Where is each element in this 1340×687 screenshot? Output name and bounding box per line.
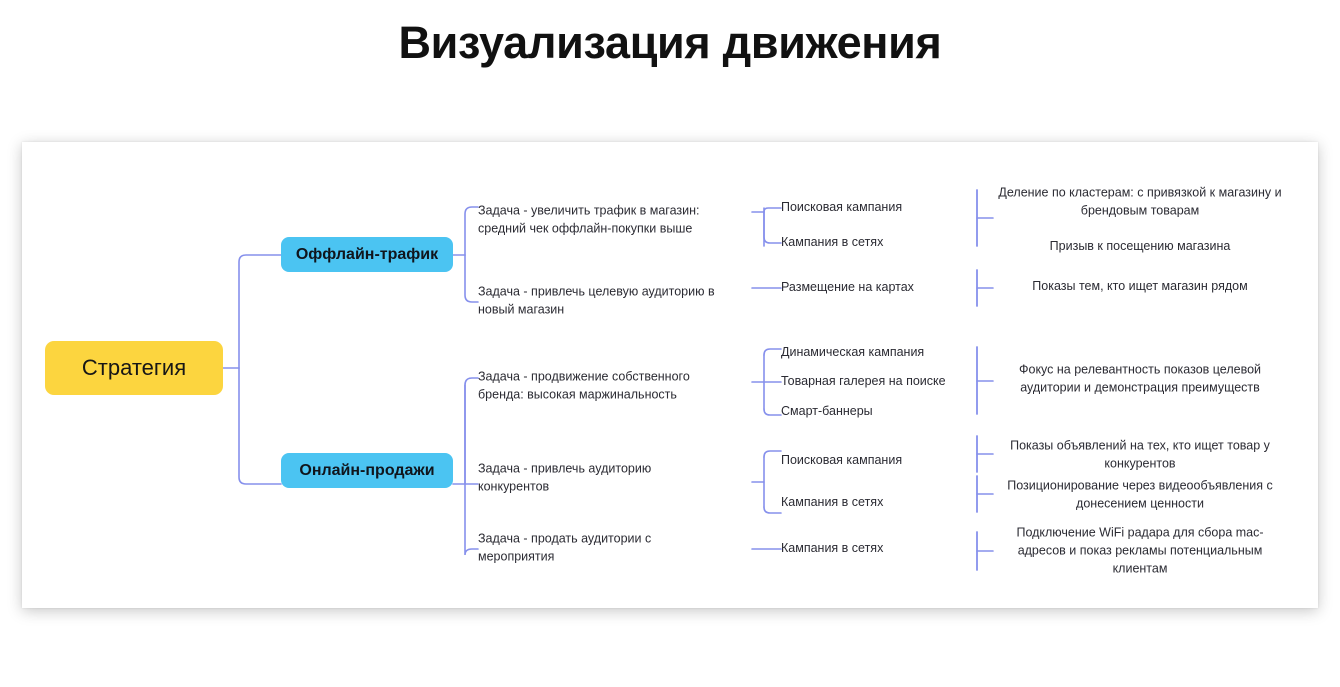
channel-node[interactable]: Поисковая кампания — [781, 199, 963, 217]
node-branch-online[interactable]: Онлайн-продажи — [281, 453, 453, 488]
task-node[interactable]: Задача - продвижение собственного бренда… — [478, 368, 724, 404]
task-node[interactable]: Задача - продать аудитории с мероприятия — [478, 530, 724, 566]
task-node[interactable]: Задача - привлечь целевую аудиторию в но… — [478, 283, 724, 319]
node-branch-offline[interactable]: Оффлайн-трафик — [281, 237, 453, 272]
note-node[interactable]: Позиционирование через видеообъявления с… — [997, 477, 1283, 513]
channel-node[interactable]: Кампания в сетях — [781, 494, 963, 512]
task-node[interactable]: Задача - привлечь аудиторию конкурентов — [478, 460, 724, 496]
channel-node[interactable]: Смарт-баннеры — [781, 403, 963, 421]
note-node[interactable]: Деление по кластерам: с привязкой к мага… — [997, 184, 1283, 220]
node-root-label: Стратегия — [82, 355, 186, 381]
note-node[interactable]: Показы объявлений на тех, кто ищет товар… — [997, 437, 1283, 473]
channel-node[interactable]: Поисковая кампания — [781, 452, 963, 470]
note-node[interactable]: Призыв к посещению магазина — [997, 238, 1283, 256]
node-root[interactable]: Стратегия — [45, 341, 223, 395]
page-title: Визуализация движения — [0, 18, 1340, 68]
channel-node[interactable]: Кампания в сетях — [781, 540, 963, 558]
channel-node[interactable]: Динамическая кампания — [781, 344, 963, 362]
node-branch-online-label: Онлайн-продажи — [299, 462, 434, 480]
channel-node[interactable]: Размещение на картах — [781, 279, 963, 297]
note-node[interactable]: Фокус на релевантность показов целевой а… — [997, 361, 1283, 397]
note-node[interactable]: Подключение WiFi радара для сбора mac-ад… — [997, 524, 1283, 577]
mindmap-canvas: Стратегия Оффлайн-трафик Онлайн-продажи … — [22, 142, 1318, 608]
note-node[interactable]: Показы тем, кто ищет магазин рядом — [997, 278, 1283, 296]
channel-node[interactable]: Товарная галерея на поиске — [781, 373, 963, 391]
node-branch-offline-label: Оффлайн-трафик — [296, 246, 438, 264]
mindmap-layer: Стратегия Оффлайн-трафик Онлайн-продажи … — [22, 142, 1318, 608]
task-node[interactable]: Задача - увеличить трафик в магазин: сре… — [478, 202, 724, 238]
channel-node[interactable]: Кампания в сетях — [781, 234, 963, 252]
